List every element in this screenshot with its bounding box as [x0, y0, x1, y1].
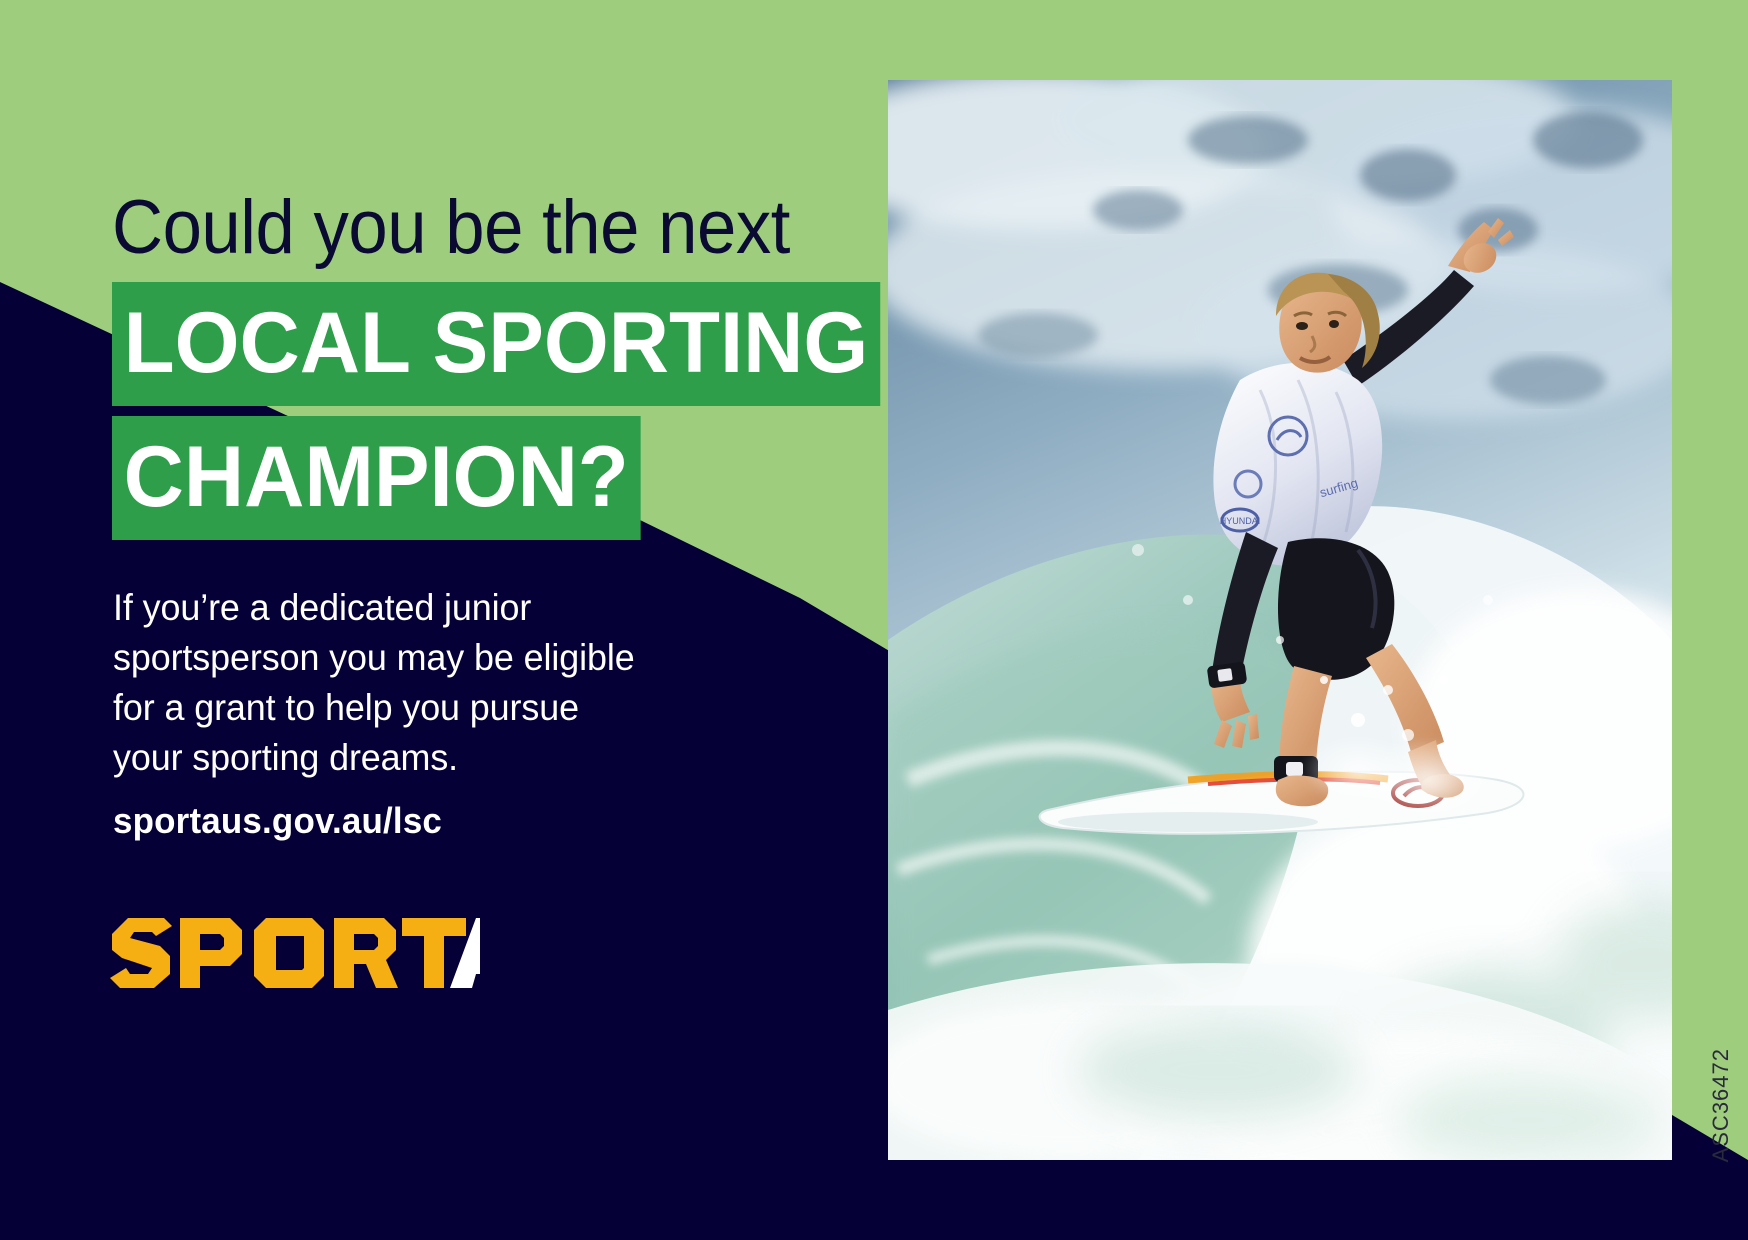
svg-text:HYUNDAI: HYUNDAI	[1220, 516, 1261, 526]
headline-line-2: CHAMPION?	[112, 416, 640, 540]
website-url[interactable]: sportaus.gov.au/lsc	[113, 800, 442, 842]
headline-block: Could you be the next LOCAL SPORTING CHA…	[112, 186, 1012, 540]
body-paragraph: If you’re a dedicated junior sportsperso…	[113, 583, 656, 783]
headline-kicker: Could you be the next	[112, 186, 949, 270]
headline-line-1: LOCAL SPORTING	[112, 282, 880, 406]
sport-aus-logo[interactable]	[108, 912, 480, 994]
asset-code: ASC36472	[1708, 1048, 1734, 1162]
headline-line-2-row: CHAMPION?	[112, 416, 1012, 540]
headline-line-1-row: LOCAL SPORTING	[112, 282, 1012, 406]
poster-canvas: HYUNDAI surfing	[0, 0, 1748, 1240]
